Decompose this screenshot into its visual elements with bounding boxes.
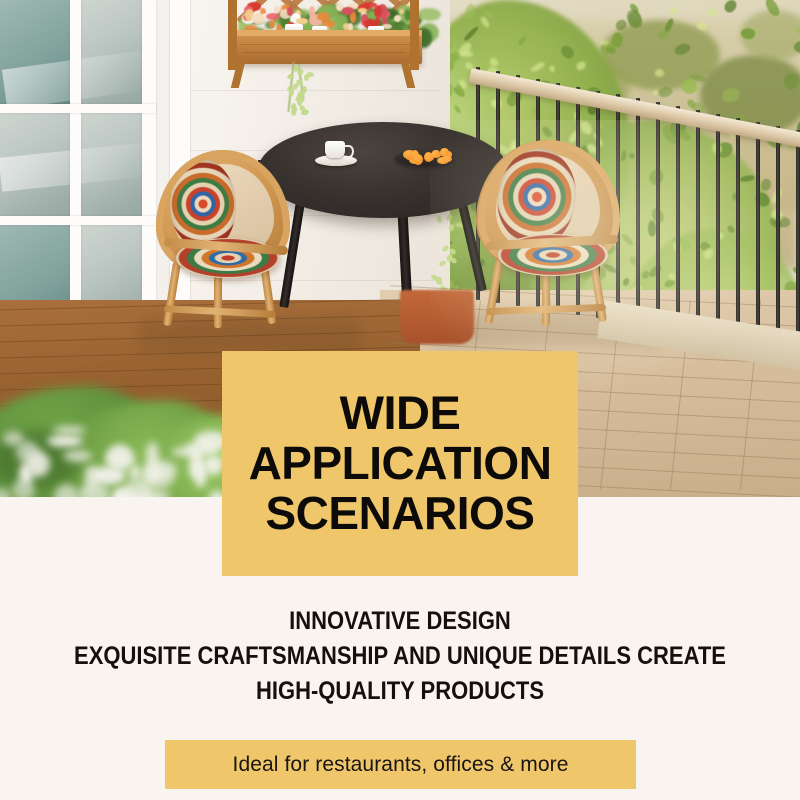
white-blossom: [47, 435, 83, 447]
planter-top-edge: [232, 30, 422, 36]
fruit-piece: [443, 156, 452, 162]
white-blossom: [63, 450, 92, 462]
flower-bloom: [269, 20, 275, 27]
subcopy-block: INNOVATIVE DESIGN EXQUISITE CRAFTSMANSHI…: [0, 604, 800, 709]
terracotta-pot: [400, 290, 474, 344]
cup-handle: [344, 145, 354, 158]
headline-banner: WIDE APPLICATION SCENARIOS: [222, 351, 578, 576]
railing-baluster: [736, 118, 740, 339]
headline-line-3: SCENARIOS: [266, 489, 535, 539]
railing-baluster: [796, 130, 800, 348]
railing-baluster: [656, 102, 660, 327]
rattan-chair-left: [152, 150, 302, 330]
door-muntin: [0, 216, 156, 225]
trellis-post: [410, 0, 419, 70]
white-blossom: [210, 490, 222, 497]
chair-leg: [163, 262, 181, 326]
flower-bloom: [342, 7, 354, 16]
railing-baluster: [696, 110, 700, 333]
railing-baluster: [756, 122, 760, 342]
wood-grain: [240, 44, 414, 45]
trailing-leaf: [291, 106, 296, 113]
railing-baluster: [676, 106, 680, 330]
coffee-cup: [325, 141, 345, 158]
white-blossom: [19, 463, 33, 485]
railing-baluster: [716, 114, 720, 336]
white-blossom: [121, 480, 152, 497]
door-muntin: [0, 104, 156, 113]
headline-line-2: APPLICATION: [249, 439, 552, 489]
planter-leaf: [417, 8, 440, 21]
promo-poster: WIDE APPLICATION SCENARIOS INNOVATIVE DE…: [0, 0, 800, 800]
subcopy-line-2: EXQUISITE CRAFTSMANSHIP AND UNIQUE DETAI…: [48, 639, 752, 674]
door-mullion: [70, 0, 81, 345]
subcopy-line-1: INNOVATIVE DESIGN: [48, 604, 752, 639]
rattan-chair-right: [472, 140, 632, 330]
footer-callout-bar: Ideal for restaurants, offices & more: [165, 740, 636, 789]
trellis-post: [228, 0, 237, 70]
white-blossom: [204, 455, 223, 475]
vine-highlight-leaf: [653, 90, 658, 95]
fruit-piece: [413, 154, 423, 165]
headline-line-1: WIDE: [340, 388, 461, 439]
flower-bloom: [394, 15, 401, 22]
subcopy-line-3: HIGH-QUALITY PRODUCTS: [48, 674, 752, 709]
chair-leg: [214, 270, 222, 328]
railing-baluster: [636, 98, 640, 324]
white-blossom: [195, 461, 206, 488]
white-blossom: [16, 441, 38, 464]
flower-bloom: [358, 8, 367, 14]
footer-callout-text: Ideal for restaurants, offices & more: [233, 753, 569, 777]
railing-baluster: [776, 126, 780, 345]
wood-grain: [244, 52, 404, 53]
